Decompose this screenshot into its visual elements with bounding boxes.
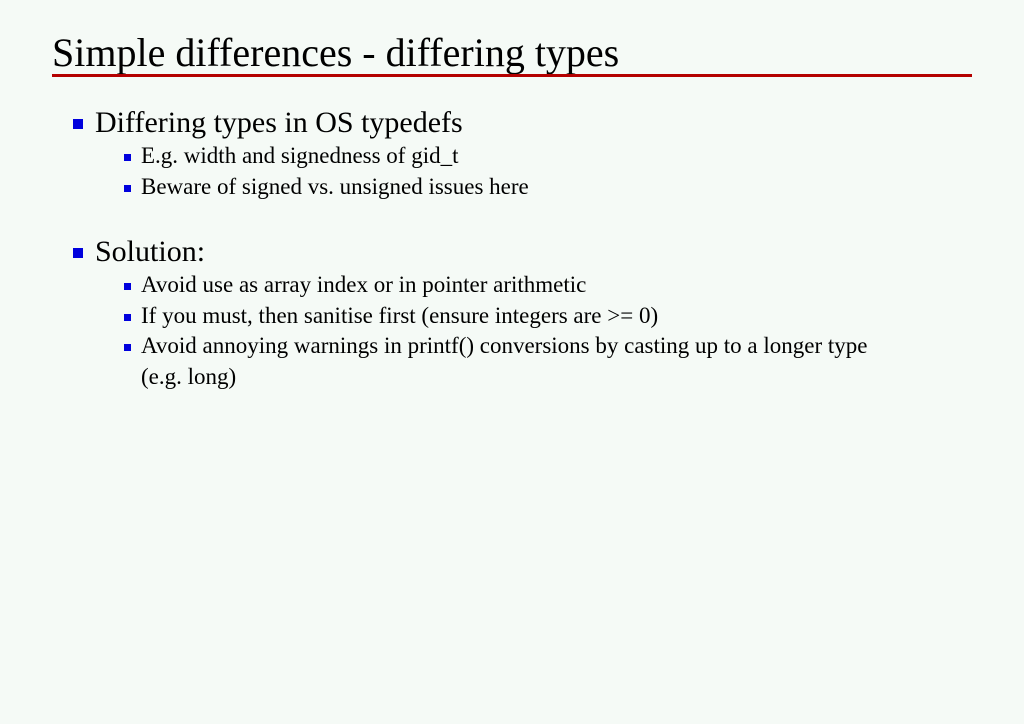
- bullet-level1-label: Differing types in OS typedefs: [95, 106, 463, 139]
- square-bullet-icon: [124, 314, 131, 321]
- bullet-level2: Avoid use as array index or in pointer a…: [0, 270, 1024, 301]
- bullet-level2-label: Beware of signed vs. unsigned issues her…: [141, 172, 1024, 203]
- square-bullet-icon: [124, 283, 131, 290]
- square-bullet-icon: [124, 344, 131, 351]
- page-title: Simple differences - differing types: [52, 30, 972, 76]
- square-bullet-icon: [124, 185, 131, 192]
- section-spacer: [0, 202, 1024, 233]
- slide-body: Differing types in OS typedefs E.g. widt…: [0, 104, 1024, 392]
- bullet-level2: Avoid annoying warnings in printf() conv…: [0, 331, 1024, 392]
- bullet-level2: Beware of signed vs. unsigned issues her…: [0, 172, 1024, 203]
- slide: Simple differences - differing types Dif…: [0, 0, 1024, 724]
- bullet-level2-label: E.g. width and signedness of gid_t: [141, 141, 1024, 172]
- square-bullet-icon: [73, 248, 83, 258]
- bullet-section: Differing types in OS typedefs E.g. widt…: [0, 104, 1024, 202]
- bullet-level2: If you must, then sanitise first (ensure…: [0, 301, 1024, 332]
- bullet-level2: E.g. width and signedness of gid_t: [0, 141, 1024, 172]
- square-bullet-icon: [73, 119, 83, 129]
- bullet-section: Solution: Avoid use as array index or in…: [0, 233, 1024, 392]
- title-block: Simple differences - differing types: [52, 30, 972, 76]
- bullet-level2-label: Avoid annoying warnings in printf() conv…: [141, 331, 894, 392]
- bullet-level1: Solution:: [0, 233, 1024, 270]
- bullet-level1-label: Solution:: [95, 235, 205, 268]
- title-underline-rule: [52, 74, 972, 77]
- bullet-level2-label: Avoid use as array index or in pointer a…: [141, 270, 1024, 301]
- square-bullet-icon: [124, 154, 131, 161]
- bullet-level2-label: If you must, then sanitise first (ensure…: [141, 301, 1024, 332]
- bullet-level1: Differing types in OS typedefs: [0, 104, 1024, 141]
